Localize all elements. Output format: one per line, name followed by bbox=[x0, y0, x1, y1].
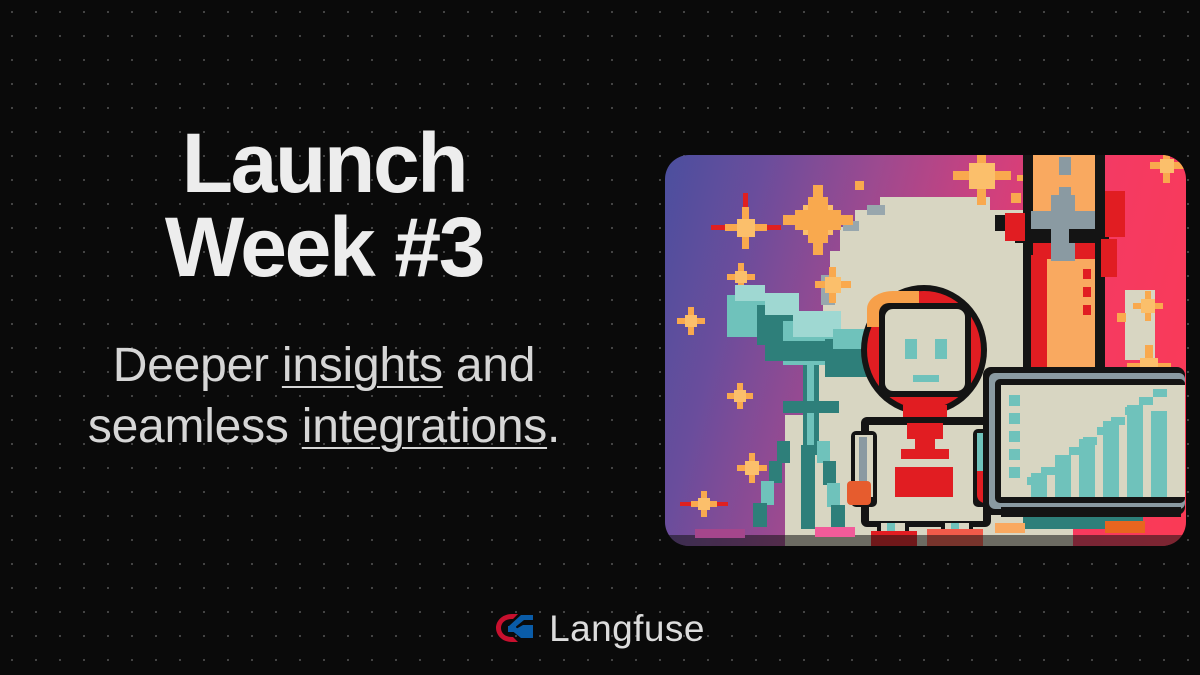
page-title: Launch Week #3 bbox=[165, 122, 483, 288]
hero-pixel-art bbox=[665, 155, 1186, 546]
star-medium-1 bbox=[725, 207, 767, 249]
brand-logo: Langfuse bbox=[0, 600, 1200, 656]
subtitle-segment-4: . bbox=[547, 400, 560, 453]
launch-week-slide: Launch Week #3 Deeper insights andseamle… bbox=[0, 0, 1200, 675]
star-small-4 bbox=[737, 453, 767, 483]
subtitle-segment-1: Deeper bbox=[113, 339, 282, 392]
star-small-3 bbox=[727, 383, 753, 409]
star-small-2 bbox=[677, 307, 705, 335]
subtitle-segment-2: and bbox=[443, 339, 535, 392]
subtitle-segment-3: seamless bbox=[88, 400, 302, 453]
headline-line-1: Launch bbox=[182, 116, 467, 210]
headline-line-2: Week #3 bbox=[165, 200, 483, 294]
langfuse-logo-icon bbox=[495, 611, 535, 645]
star-large-1 bbox=[783, 185, 853, 255]
hero-image-card bbox=[665, 155, 1186, 546]
subtitle-highlight-integrations: integrations bbox=[302, 400, 547, 453]
star-large-2 bbox=[953, 155, 1011, 205]
star-small-8 bbox=[1133, 291, 1163, 321]
page-subtitle: Deeper insights andseamless integrations… bbox=[88, 335, 560, 458]
star-medium-2 bbox=[815, 267, 851, 303]
brand-wordmark: Langfuse bbox=[549, 610, 705, 647]
star-small-6 bbox=[1150, 155, 1184, 183]
hero-text-column: Launch Week #3 Deeper insights andseamle… bbox=[0, 0, 648, 580]
star-small-5 bbox=[691, 491, 717, 517]
subtitle-highlight-insights: insights bbox=[282, 339, 443, 392]
